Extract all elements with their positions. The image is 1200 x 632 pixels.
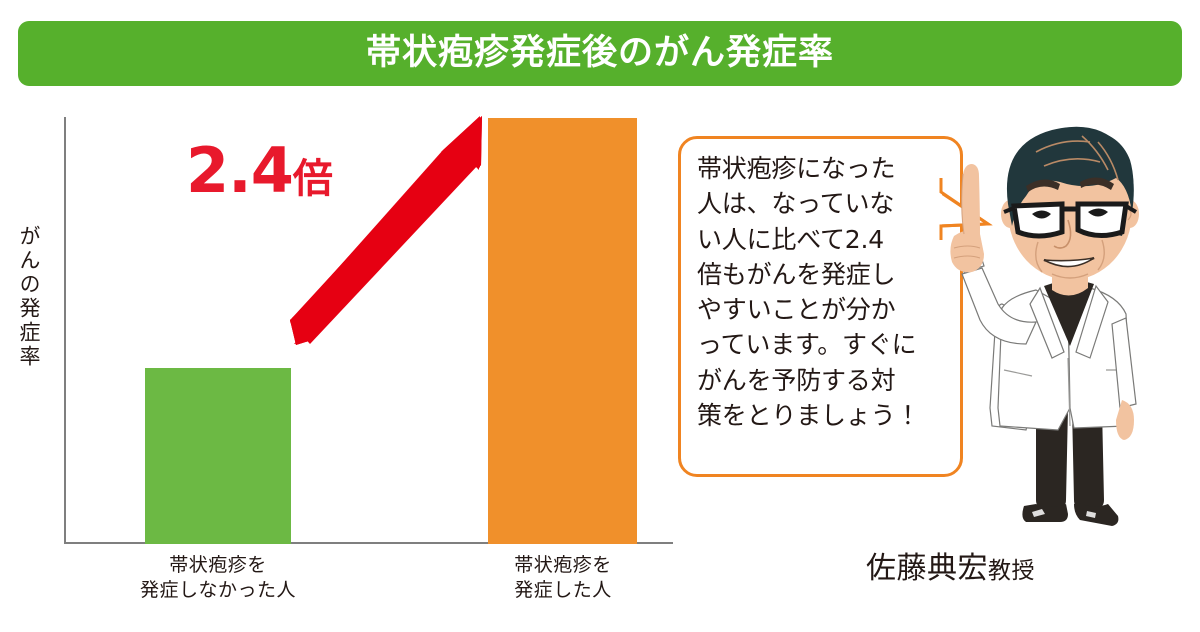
speech-line: 倍もがんを発症し — [697, 257, 947, 292]
doctor-name-caption: 佐藤典宏教授 — [866, 543, 1035, 587]
bar-no-shingles — [145, 368, 291, 544]
speech-line: い人に比べて2.4 — [697, 222, 947, 257]
x-tick-line-1: 帯状疱疹を — [118, 553, 318, 578]
speech-line: 帯状疱疹になった — [697, 151, 947, 186]
doctor-illustration — [940, 108, 1200, 528]
ratio-number: 2.4 — [186, 134, 293, 207]
doctor-rank: 教授 — [988, 558, 1035, 584]
doctor-name: 佐藤典宏 — [866, 551, 988, 586]
speech-line: っています。すぐに — [697, 327, 947, 362]
speech-line: 策をとりましょう！ — [697, 398, 947, 433]
speech-bubble: 帯状疱疹になった 人は、なっていな い人に比べて2.4 倍もがんを発症し やすい… — [678, 136, 963, 477]
x-tick-line-1: 帯状疱疹を — [487, 553, 639, 578]
x-tick-line-2: 発症しなかった人 — [118, 578, 318, 603]
speech-line: がんを予防する対 — [697, 363, 947, 398]
y-axis-line — [64, 117, 66, 544]
growth-arrow-icon — [280, 108, 500, 348]
speech-line: やすいことが分か — [697, 292, 947, 327]
y-axis-label: がんの発症率 — [6, 225, 40, 369]
speech-bubble-text: 帯状疱疹になった 人は、なっていな い人に比べて2.4 倍もがんを発症し やすい… — [697, 151, 947, 433]
bar-shingles — [488, 118, 637, 544]
x-tick-line-2: 発症した人 — [487, 578, 639, 603]
infographic-root: 帯状疱疹発症後のがん発症率 がんの発症率 帯状疱疹を 発症しなかった人 帯状疱疹… — [0, 0, 1200, 632]
x-tick-label-no-shingles: 帯状疱疹を 発症しなかった人 — [118, 553, 318, 603]
x-tick-label-shingles: 帯状疱疹を 発症した人 — [487, 553, 639, 603]
speech-line: 人は、なっていな — [697, 186, 947, 221]
bar-chart: がんの発症率 帯状疱疹を 発症しなかった人 帯状疱疹を 発症した人 2.4倍 — [0, 0, 700, 632]
